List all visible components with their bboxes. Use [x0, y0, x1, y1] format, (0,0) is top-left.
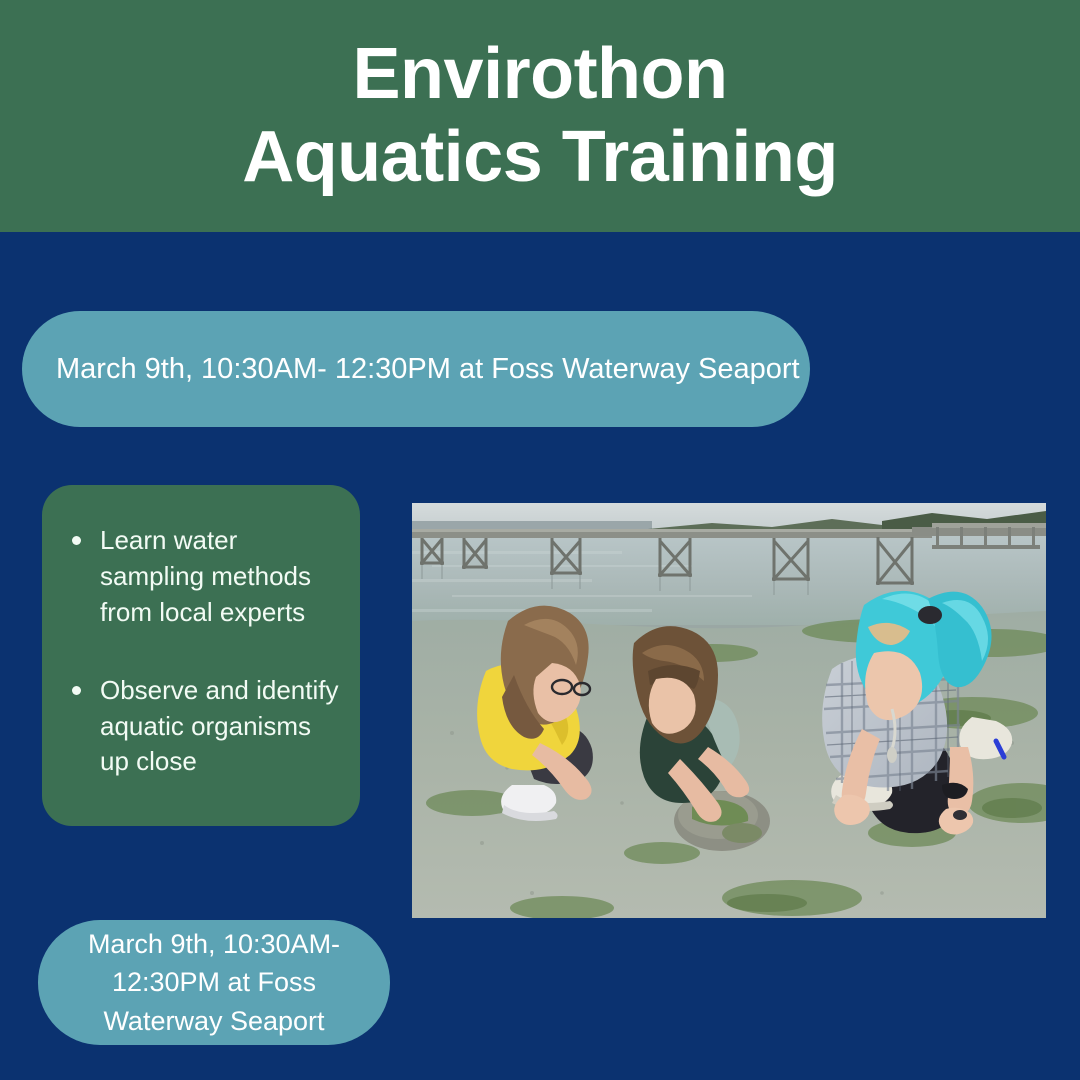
activities-bullet-list: Learn water sampling methods from local …	[60, 523, 342, 780]
list-item-label: Observe and identify aquatic organisms u…	[100, 675, 338, 777]
bullet-dot-icon	[72, 686, 81, 695]
list-item: Learn water sampling methods from local …	[60, 523, 342, 631]
header-band: Envirothon Aquatics Training	[0, 0, 1080, 232]
beach-fieldwork-photo	[412, 503, 1046, 918]
page-title-line-2: Aquatics Training	[242, 117, 838, 198]
event-details-banner-top-text: March 9th, 10:30AM- 12:30PM at Foss Wate…	[56, 352, 800, 387]
bullet-dot-icon	[72, 536, 81, 545]
page-title-line-1: Envirothon	[353, 34, 728, 115]
poster-canvas: Envirothon Aquatics Training March 9th, …	[0, 0, 1080, 1080]
beach-fieldwork-photo-illustration	[412, 503, 1046, 918]
activities-card: Learn water sampling methods from local …	[42, 485, 360, 826]
list-item-label: Learn water sampling methods from local …	[100, 525, 311, 627]
event-details-banner-top: March 9th, 10:30AM- 12:30PM at Foss Wate…	[22, 311, 810, 427]
event-details-banner-bottom-text: March 9th, 10:30AM- 12:30PM at Foss Wate…	[64, 925, 364, 1040]
event-details-banner-bottom: March 9th, 10:30AM- 12:30PM at Foss Wate…	[38, 920, 390, 1045]
list-item: Observe and identify aquatic organisms u…	[60, 673, 342, 781]
